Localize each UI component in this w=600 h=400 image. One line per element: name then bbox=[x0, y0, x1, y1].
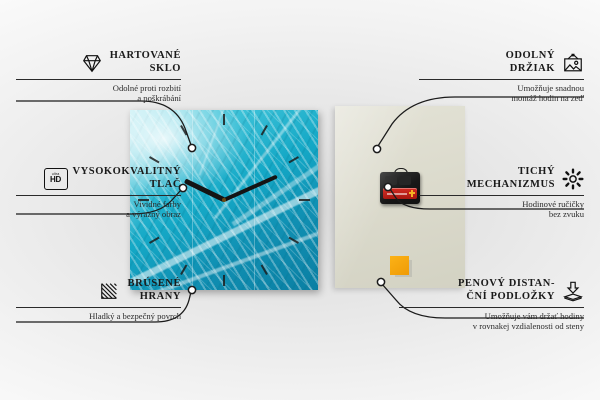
ultra-hd-icon: ultraHD bbox=[44, 168, 66, 190]
divider bbox=[419, 195, 584, 196]
divider bbox=[419, 79, 584, 80]
clock-tick bbox=[223, 200, 225, 286]
feature-foam-spacers: PENOVÝ DISTAN- ČNÍ PODLOŽKY Umožňuje vám… bbox=[399, 278, 584, 332]
sanded-edges-icon bbox=[99, 280, 121, 302]
foam-spacer-pad bbox=[390, 256, 409, 275]
divider bbox=[399, 307, 584, 308]
feature-title: ODOLNÝ DRŽIAK bbox=[506, 50, 555, 75]
divider bbox=[16, 195, 181, 196]
feature-silent-mechanism: TICHÝ MECHANIZMUS Hodinové ručičky bez z… bbox=[419, 166, 584, 220]
clock-tick bbox=[224, 199, 310, 201]
divider bbox=[16, 79, 181, 80]
clock-tick bbox=[223, 114, 225, 200]
gear-icon bbox=[562, 168, 584, 190]
feature-title: HARTOVANÉ SKLO bbox=[110, 50, 181, 75]
feature-title: TICHÝ MECHANIZMUS bbox=[467, 166, 555, 191]
feature-durable-hanger: ODOLNÝ DRŽIAK Umožňuje snadnou montáž ho… bbox=[419, 50, 584, 104]
mechanism-body bbox=[380, 172, 420, 204]
center-pin bbox=[222, 198, 226, 202]
divider bbox=[16, 307, 181, 308]
feature-description: Vividné farby a výrazný obraz bbox=[16, 199, 181, 220]
feature-title: VYSOKOKVALITNÝ TLAČ bbox=[73, 166, 181, 191]
diamond-icon bbox=[81, 52, 103, 74]
feature-description: Odolné proti rozbití a poškrábání bbox=[16, 83, 181, 104]
feature-high-quality-print: ultraHD VYSOKOKVALITNÝ TLAČ Vividné farb… bbox=[16, 166, 181, 220]
feature-polished-edges: BRÚSENÉ HRANY Hladký a bezpečný povrch bbox=[16, 278, 181, 321]
mechanism-hook bbox=[394, 168, 408, 177]
feature-description: Umožňuje snadnou montáž hodin na zeď bbox=[419, 83, 584, 104]
feature-description: Umožňuje vám držať hodiny v rovnakej vzd… bbox=[399, 311, 584, 332]
feature-description: Hladký a bezpečný povrch bbox=[16, 311, 181, 321]
picture-frame-hanger-icon bbox=[562, 52, 584, 74]
feature-description: Hodinové ručičky bez zvuku bbox=[419, 199, 584, 220]
feature-title: BRÚSENÉ HRANY bbox=[128, 278, 181, 303]
stacked-arrow-icon bbox=[562, 280, 584, 302]
infographic-canvas: HARTOVANÉ SKLO Odolné proti rozbití a po… bbox=[0, 0, 600, 400]
clock-mechanism bbox=[380, 168, 420, 204]
feature-title: PENOVÝ DISTAN- ČNÍ PODLOŽKY bbox=[458, 278, 555, 303]
feature-tempered-glass: HARTOVANÉ SKLO Odolné proti rozbití a po… bbox=[16, 50, 181, 104]
battery bbox=[383, 188, 417, 199]
